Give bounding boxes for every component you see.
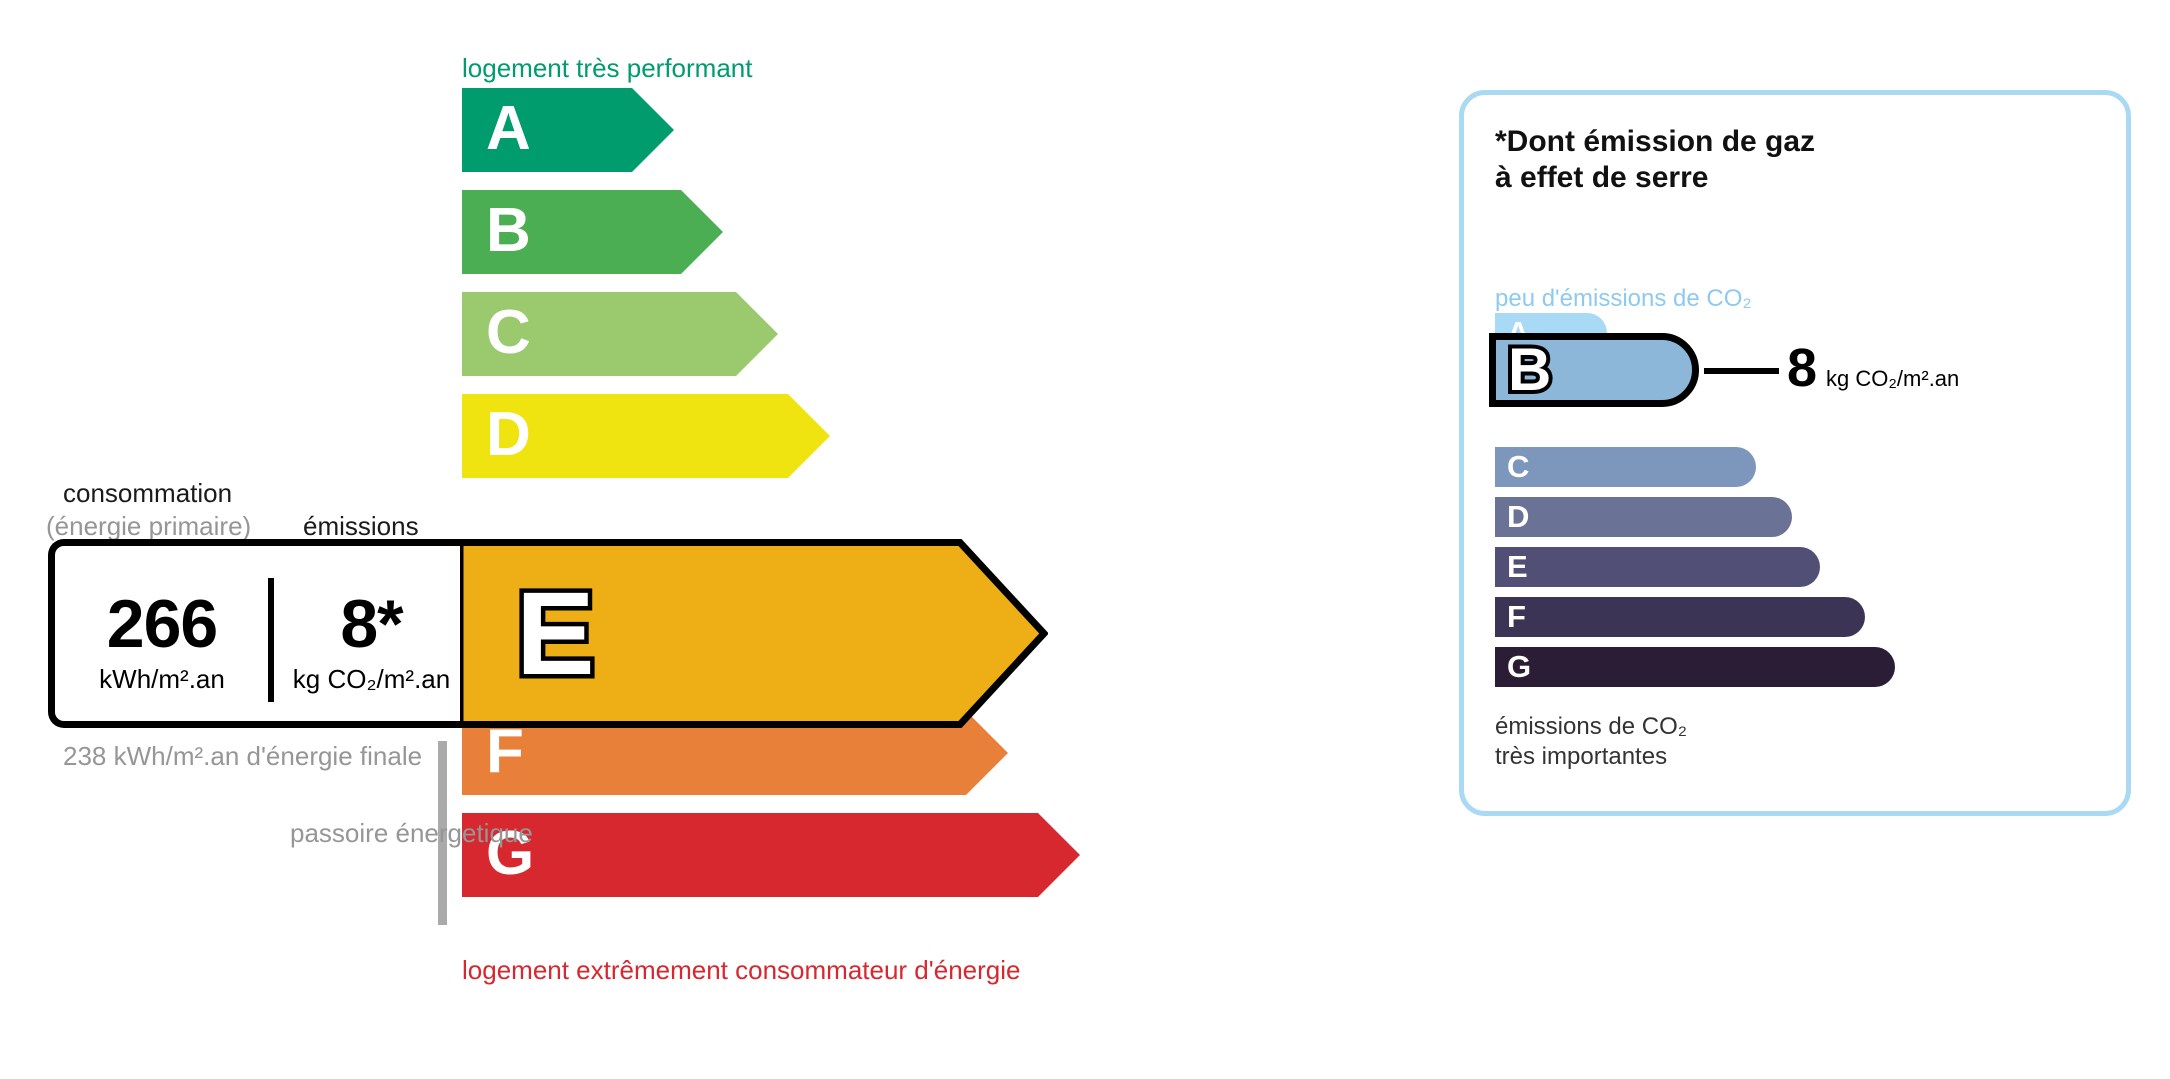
energy-class-arrow-a: A <box>462 88 674 172</box>
current-class-arrow: E <box>460 539 1048 728</box>
co2-bar-shape: C <box>1495 447 1756 487</box>
emission-unit: kg CO₂/m².an <box>293 666 450 692</box>
co2-bar-letter: E <box>1507 551 1528 582</box>
energy-class-arrow-b: B <box>462 190 723 274</box>
consumption-value: 266 <box>107 590 217 658</box>
energy-performance-panel: logement très performant ABCDFG consomma… <box>0 0 1400 1079</box>
consommation-label: consommation <box>63 478 232 509</box>
consumption-unit: kWh/m².an <box>99 666 225 692</box>
co2-class-bar-f: F <box>1495 597 1865 637</box>
energy-class-arrow-g: G <box>462 813 1080 897</box>
energy-top-caption: logement très performant <box>462 53 752 84</box>
current-energy-class-row: 266 kWh/m².an 8* kg CO₂/m².an E <box>48 539 1048 728</box>
current-co2-class-bar: B <box>1489 333 1699 407</box>
co2-top-caption: peu d'émissions de CO₂ <box>1495 285 1752 313</box>
emissions-label: émissions <box>303 511 419 542</box>
co2-bar-shape: G <box>1495 647 1895 687</box>
co2-value-group: 8 kg CO₂/m².an <box>1787 341 1959 395</box>
co2-bar-letter: F <box>1507 601 1526 632</box>
arrow-shape: B <box>462 190 723 274</box>
arrow-shape: C <box>462 292 778 376</box>
co2-class-bar-e: E <box>1495 547 1820 587</box>
energy-class-arrow-d: D <box>462 394 830 478</box>
co2-bar-letter: D <box>1507 501 1529 532</box>
co2-class-bar-g: G <box>1495 647 1895 687</box>
arrow-shape: D <box>462 394 830 478</box>
arrow-shape: A <box>462 88 674 172</box>
co2-value: 8 <box>1787 341 1817 395</box>
co2-bar-shape: F <box>1495 597 1865 637</box>
co2-unit: kg CO₂/m².an <box>1826 368 1959 390</box>
co2-emissions-panel: *Dont émission de gaz à effet de serre p… <box>1459 90 2131 816</box>
emission-value: 8* <box>340 590 402 658</box>
energy-bottom-caption: logement extrêmement consommateur d'éner… <box>462 955 1020 986</box>
co2-bar-shape: E <box>1495 547 1820 587</box>
energie-primaire-label: (énergie primaire) <box>46 511 251 542</box>
co2-bar-letter: G <box>1507 651 1531 682</box>
co2-panel-title: *Dont émission de gaz à effet de serre <box>1495 124 1815 196</box>
current-co2-class-letter: B <box>1508 340 1551 400</box>
emission-value-cell: 8* kg CO₂/m².an <box>269 546 474 735</box>
co2-bar-letter: C <box>1507 451 1529 482</box>
energy-values-box: 266 kWh/m².an 8* kg CO₂/m².an <box>48 539 467 728</box>
co2-bar-shape: D <box>1495 497 1792 537</box>
passoire-energetique-label: passoire énergetique <box>290 817 533 850</box>
energie-finale-label: 238 kWh/m².an d'énergie finale <box>63 740 422 773</box>
co2-class-bar-c: C <box>1495 447 1756 487</box>
consumption-value-cell: 266 kWh/m².an <box>55 546 269 735</box>
co2-bottom-caption: émissions de CO₂ très importantes <box>1495 712 1687 772</box>
energy-class-arrow-c: C <box>462 292 778 376</box>
arrow-shape: G <box>462 813 1080 897</box>
dpe-label: logement très performant ABCDFG consomma… <box>0 0 2170 1079</box>
co2-class-bar-d: D <box>1495 497 1792 537</box>
co2-leader-line <box>1704 368 1779 374</box>
current-class-letter: E <box>516 575 595 693</box>
